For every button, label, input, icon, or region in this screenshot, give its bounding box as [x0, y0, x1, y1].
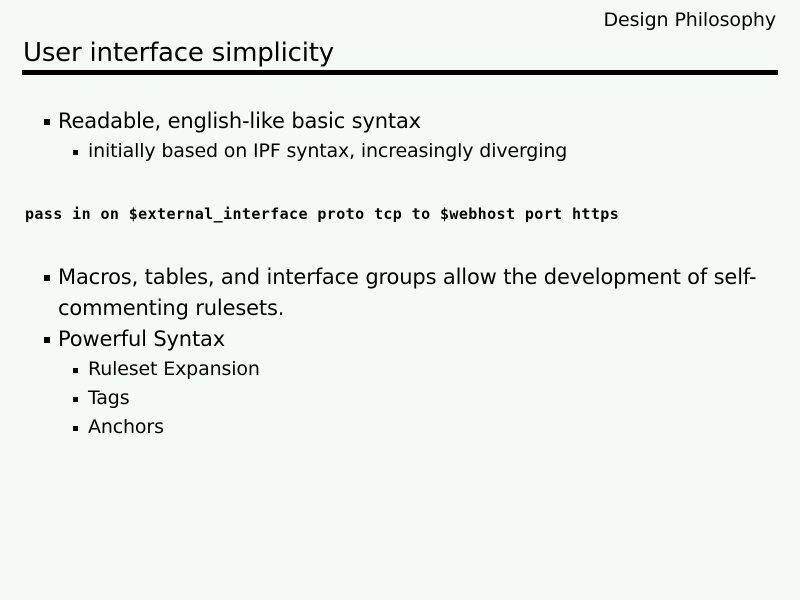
- bullet-square-icon: [44, 275, 50, 281]
- presentation-slide: Design Philosophy User interface simplic…: [0, 0, 800, 600]
- list-item-label: initially based on IPF syntax, increasin…: [88, 137, 800, 166]
- bullet-square-icon: [73, 150, 78, 155]
- list-item-label: Tags: [88, 384, 800, 413]
- list-item: Tags: [0, 384, 800, 413]
- bullet-square-icon: [73, 426, 78, 431]
- list-item: Ruleset Expansion: [0, 355, 800, 384]
- list-item-label: Anchors: [88, 413, 800, 442]
- list-item: Anchors: [0, 413, 800, 442]
- list-item: Powerful Syntax: [0, 324, 800, 355]
- bullet-list-bottom: Macros, tables, and interface groups all…: [0, 262, 800, 442]
- bullet-square-icon: [73, 397, 78, 402]
- bullet-group-bottom: Macros, tables, and interface groups all…: [0, 262, 800, 442]
- title-divider-rule: [22, 70, 778, 75]
- bullet-square-icon: [44, 337, 50, 343]
- list-item: Macros, tables, and interface groups all…: [0, 262, 800, 324]
- list-item: Readable, english-like basic syntax: [0, 106, 800, 137]
- bullet-square-icon: [44, 119, 50, 125]
- code-example-text: pass in on $external_interface proto tcp…: [25, 204, 619, 224]
- bullet-group-top: Readable, english-like basic syntax init…: [0, 106, 800, 166]
- bullet-square-icon: [73, 368, 78, 373]
- list-item-label: Ruleset Expansion: [88, 355, 800, 384]
- list-item-label: Macros, tables, and interface groups all…: [58, 262, 800, 324]
- list-item-label: Readable, english-like basic syntax: [58, 106, 800, 137]
- slide-title: User interface simplicity: [23, 36, 334, 70]
- list-item-label: Powerful Syntax: [58, 324, 800, 355]
- slide-header-label: Design Philosophy: [604, 8, 777, 32]
- list-item: initially based on IPF syntax, increasin…: [0, 137, 800, 166]
- bullet-list-top: Readable, english-like basic syntax init…: [0, 106, 800, 166]
